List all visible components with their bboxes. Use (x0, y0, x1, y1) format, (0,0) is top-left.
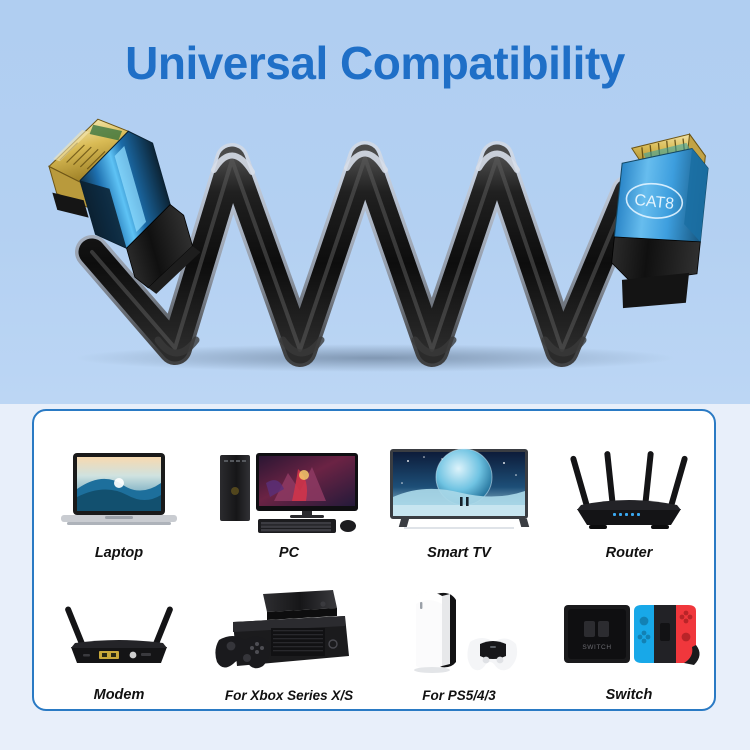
page-title: Universal Compatibility (0, 36, 750, 90)
device-item-xbox[interactable]: For Xbox Series X/S (204, 561, 374, 703)
hero-section: Universal Compatibility (0, 0, 750, 404)
desktop-pc-icon (204, 435, 374, 539)
device-label-router: Router (606, 545, 653, 561)
device-item-laptop[interactable]: Laptop (34, 421, 204, 561)
modem-icon (34, 577, 204, 681)
device-label-modem: Modem (94, 687, 145, 703)
xbox-console-icon (204, 578, 374, 682)
router-icon (544, 435, 714, 539)
device-item-smart-tv[interactable]: Smart TV (374, 421, 544, 561)
device-item-router[interactable]: Router (544, 421, 714, 561)
cable-svg: CAT8 (0, 100, 750, 390)
device-label-xbox: For Xbox Series X/S (225, 688, 353, 703)
svg-text:SWITCH: SWITCH (582, 644, 611, 651)
device-label-laptop: Laptop (95, 545, 143, 561)
device-row-1: Laptop (34, 421, 714, 561)
laptop-icon (34, 435, 204, 539)
device-item-modem[interactable]: Modem (34, 561, 204, 703)
nintendo-switch-icon: SWITCH (544, 577, 714, 681)
device-label-playstation: For PS5/4/3 (422, 688, 496, 703)
device-label-smart-tv: Smart TV (427, 545, 491, 561)
device-row-2: Modem (34, 561, 714, 703)
device-item-playstation[interactable]: For PS5/4/3 (374, 561, 544, 703)
device-label-switch: Switch (606, 687, 653, 703)
dualsense-controller-icon (467, 638, 517, 670)
cable-illustration: CAT8 (0, 100, 750, 390)
compatibility-panel: Laptop (32, 409, 716, 711)
device-label-pc: PC (279, 545, 299, 561)
device-item-switch[interactable]: SWITCH (544, 561, 714, 703)
device-item-pc[interactable]: PC (204, 421, 374, 561)
product-marketing-image: Universal Compatibility (0, 0, 750, 750)
smart-tv-icon (374, 435, 544, 539)
rj45-connector-right: CAT8 (607, 127, 711, 315)
playstation-console-icon (374, 578, 544, 682)
